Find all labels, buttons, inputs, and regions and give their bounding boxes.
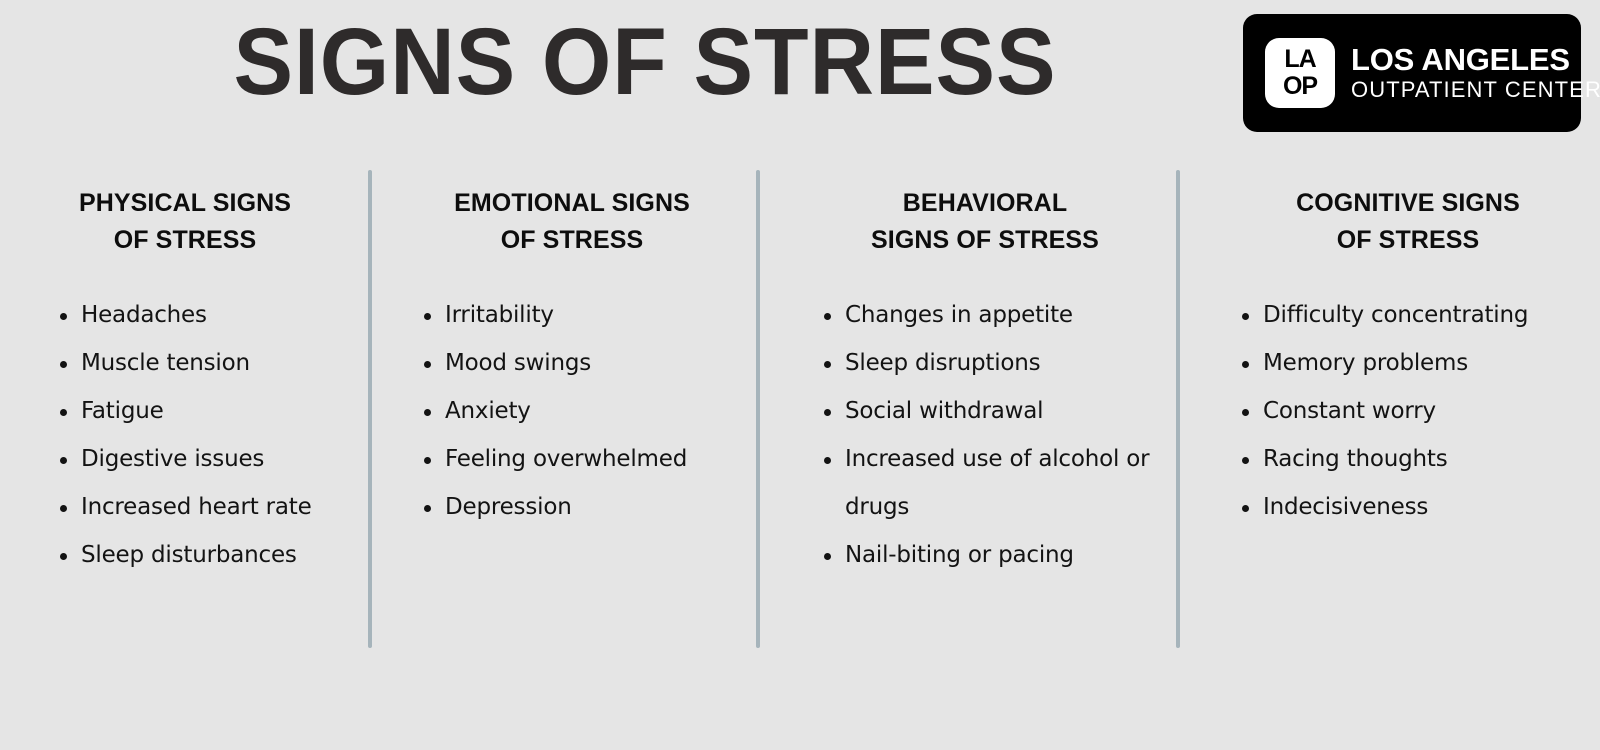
list-item: Racing thoughts [1236,435,1580,483]
column-divider [756,170,760,648]
column-heading-line2: OF STRESS [24,222,346,259]
list-item: Social withdrawal [818,387,1152,435]
list-item: Changes in appetite [818,291,1152,339]
column-heading-line1: COGNITIVE SIGNS [1236,185,1580,222]
column-divider [1176,170,1180,648]
column-behavioral-signs: BEHAVIORAL SIGNS OF STRESS Changes in ap… [756,170,1176,650]
list-cognitive-signs: Difficulty concentrating Memory problems… [1236,291,1580,531]
list-item: Memory problems [1236,339,1580,387]
column-physical-signs: PHYSICAL SIGNS OF STRESS Headaches Muscl… [0,170,368,650]
logo-name-secondary: OUTPATIENT CENTER [1351,77,1600,103]
list-behavioral-signs: Changes in appetite Sleep disruptions So… [818,291,1152,579]
column-heading-cognitive: COGNITIVE SIGNS OF STRESS [1236,185,1580,259]
column-heading-emotional: EMOTIONAL SIGNS OF STRESS [408,185,736,259]
laop-monogram-icon: LA OP [1265,38,1335,108]
list-item: Feeling overwhelmed [418,435,736,483]
page-title: SIGNS OF STRESS [39,8,1252,116]
header: SIGNS OF STRESS LA OP LOS ANGELES OUTPAT… [0,0,1600,150]
list-emotional-signs: Irritability Mood swings Anxiety Feeling… [418,291,736,531]
list-item: Sleep disruptions [818,339,1152,387]
signs-columns: PHYSICAL SIGNS OF STRESS Headaches Muscl… [0,170,1600,650]
list-item: Depression [418,483,736,531]
column-heading-behavioral: BEHAVIORAL SIGNS OF STRESS [818,185,1152,259]
list-item: Headaches [54,291,346,339]
list-item: Mood swings [418,339,736,387]
column-heading-line1: BEHAVIORAL [818,185,1152,222]
list-item: Increased heart rate [54,483,346,531]
list-item: Difficulty concentrating [1236,291,1580,339]
list-item: Irritability [418,291,736,339]
list-item: Constant worry [1236,387,1580,435]
list-item: Sleep disturbances [54,531,346,579]
list-item: Increased use of alcohol or drugs [818,435,1152,531]
logo-wordmark: LOS ANGELES OUTPATIENT CENTER [1351,43,1600,103]
list-item: Muscle tension [54,339,346,387]
column-heading-line2: OF STRESS [408,222,736,259]
column-heading-line2: OF STRESS [1236,222,1580,259]
list-physical-signs: Headaches Muscle tension Fatigue Digesti… [54,291,346,579]
logo-mark-bottom-text: OP [1283,74,1317,99]
column-heading-line1: EMOTIONAL SIGNS [408,185,736,222]
column-cognitive-signs: COGNITIVE SIGNS OF STRESS Difficulty con… [1176,170,1600,650]
list-item: Nail-biting or pacing [818,531,1152,579]
logo-mark-top-text: LA [1284,47,1315,72]
list-item: Anxiety [418,387,736,435]
logo-badge[interactable]: LA OP LOS ANGELES OUTPATIENT CENTER [1243,14,1581,132]
logo-name-primary: LOS ANGELES [1351,43,1600,77]
column-heading-line2: SIGNS OF STRESS [818,222,1152,259]
list-item: Digestive issues [54,435,346,483]
list-item: Fatigue [54,387,346,435]
list-item: Indecisiveness [1236,483,1580,531]
column-divider [368,170,372,648]
column-heading-physical: PHYSICAL SIGNS OF STRESS [24,185,346,259]
column-heading-line1: PHYSICAL SIGNS [24,185,346,222]
column-emotional-signs: EMOTIONAL SIGNS OF STRESS Irritability M… [368,170,756,650]
